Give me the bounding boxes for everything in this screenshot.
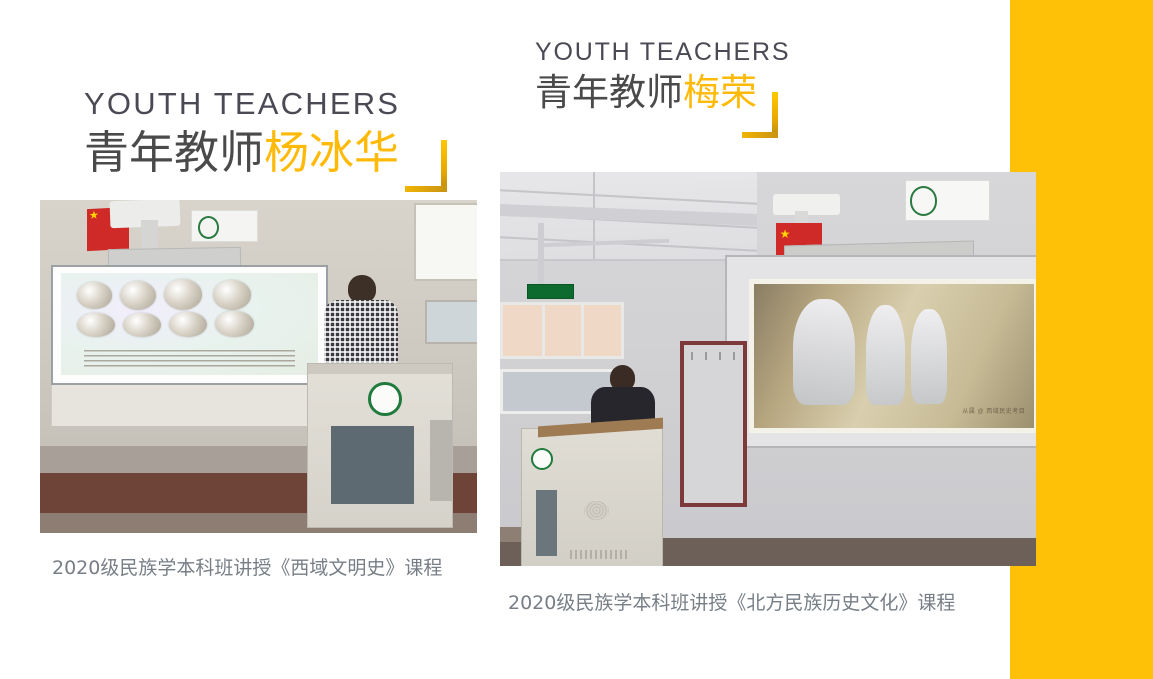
slide-coin-image <box>213 280 252 310</box>
university-logo-icon <box>198 216 219 239</box>
slide-statue-figure <box>866 305 905 406</box>
wall-notice-board <box>680 341 747 507</box>
whiteboard-lower-panel <box>51 380 326 427</box>
coat-hooks-icon <box>691 352 736 360</box>
projector-mount <box>141 220 158 250</box>
projection-screen <box>61 273 318 376</box>
slide-coin-image <box>120 281 156 310</box>
window-mullion <box>581 305 584 356</box>
slide-coin-image <box>164 279 203 310</box>
eyebrow-left: YOUTH TEACHERS <box>84 86 400 122</box>
lectern-speaker-grille <box>584 501 609 520</box>
slide-coin-image <box>215 311 254 338</box>
slide-statue-figure <box>911 309 947 404</box>
bracket-vertical-bar-left <box>441 140 447 192</box>
lectern-logo-icon <box>368 382 401 416</box>
flag-star-icon: ★ <box>89 212 98 221</box>
bracket-horizontal-bar-left <box>405 186 447 192</box>
slide-statue-horse <box>793 299 855 405</box>
slide-coin-image <box>77 282 113 309</box>
corner-bracket-right <box>742 92 778 138</box>
title-left: 青年教师杨冰华 <box>84 126 400 180</box>
eyebrow-right: YOUTH TEACHERS <box>535 38 790 67</box>
slide-watermark: 从属 @ 西域民史考目 <box>962 406 1025 415</box>
lectern-screen <box>536 490 557 556</box>
slide-body-text <box>84 350 295 368</box>
caption-right: 2020级民族学本科班讲授《北方民族历史文化》课程 <box>508 590 1060 618</box>
classroom-window <box>414 203 477 280</box>
lectern-logo-icon <box>531 448 553 470</box>
lectern <box>307 363 453 528</box>
slide-canvas: YOUTH TEACHERS 青年教师杨冰华 ★ <box>0 0 1153 679</box>
slide-coin-image <box>169 312 208 338</box>
title-prefix-left: 青年教师 <box>84 126 264 179</box>
photo-left-scene: ★ <box>40 200 477 533</box>
heading-block-left: YOUTH TEACHERS 青年教师杨冰华 <box>84 86 400 180</box>
whiteboard: 从属 @ 西域民史考目 <box>725 255 1036 448</box>
window-mullion <box>542 305 545 356</box>
caption-left: 2020级民族学本科班讲授《西域文明史》课程 <box>52 555 482 583</box>
speaker-head <box>348 275 376 303</box>
title-prefix-right: 青年教师 <box>535 71 683 114</box>
bracket-horizontal-bar-right <box>742 132 778 138</box>
photo-left: ★ <box>40 200 477 533</box>
whiteboard <box>51 265 328 386</box>
exit-sign-icon <box>527 284 575 299</box>
lectern <box>521 428 662 566</box>
photo-right-scene: ★ 从属 @ 西域民史考目 <box>500 172 1036 566</box>
slide-coin-image <box>77 313 116 338</box>
ceiling-line <box>500 190 757 205</box>
lectern-top <box>308 364 452 374</box>
corner-bracket-left <box>405 140 447 192</box>
classroom-window-lower <box>425 300 477 344</box>
wall-conduit <box>538 223 544 290</box>
university-logo-icon <box>910 186 937 215</box>
lectern-vent <box>570 550 629 558</box>
classroom-window <box>500 302 624 359</box>
lectern-side <box>430 420 452 502</box>
lectern-screen <box>331 426 415 504</box>
teacher-name-left: 杨冰华 <box>264 126 399 179</box>
projection-screen: 从属 @ 西域民史考目 <box>749 279 1036 433</box>
university-banner <box>905 180 990 221</box>
slide-coin-image <box>123 313 162 338</box>
photo-right: ★ 从属 @ 西域民史考目 <box>500 172 1036 566</box>
university-banner <box>191 210 259 242</box>
flag-star-icon: ★ <box>780 228 791 240</box>
